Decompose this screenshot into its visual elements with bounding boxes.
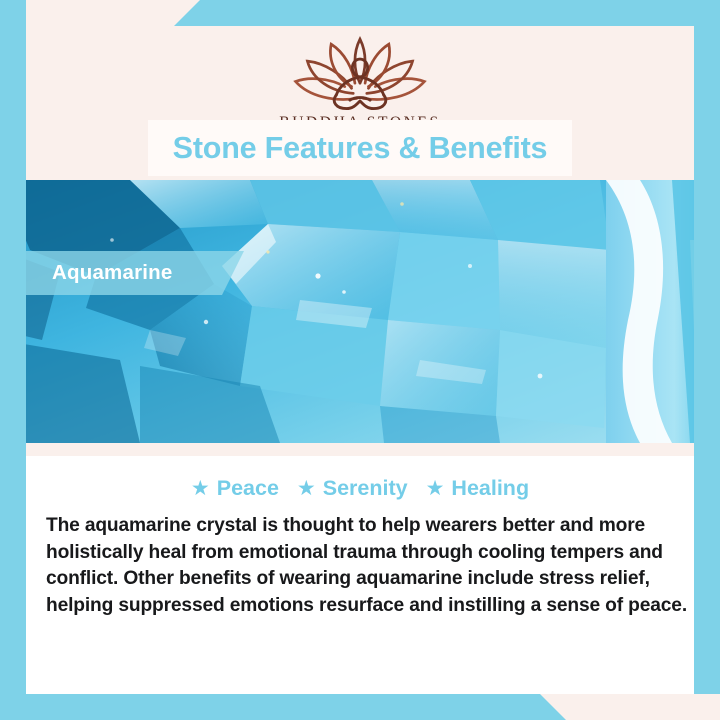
benefit-label: Serenity	[323, 476, 408, 501]
content-area: ★ Peace ★ Serenity ★ Healing The aquamar…	[26, 456, 694, 694]
stone-description: The aquamarine crystal is thought to hel…	[26, 513, 694, 619]
crystal-photo-art	[26, 180, 694, 443]
lotus-meditation-figure-icon	[275, 34, 445, 112]
stone-name-label: Aquamarine	[26, 261, 172, 285]
benefit-label: Healing	[451, 476, 529, 501]
aquamarine-crystal-photo	[26, 180, 694, 443]
frame-top-diagonal-band	[0, 0, 720, 26]
card-inner: BUDDHA STONES Stone Features & Benefits	[26, 26, 694, 694]
benefit-item-healing: ★ Healing	[426, 476, 529, 501]
page-title: Stone Features & Benefits	[173, 131, 548, 166]
benefit-item-serenity: ★ Serenity	[297, 476, 408, 501]
title-panel: Stone Features & Benefits	[148, 120, 572, 176]
star-icon: ★	[191, 478, 210, 499]
star-icon: ★	[426, 478, 445, 499]
benefits-row: ★ Peace ★ Serenity ★ Healing	[26, 456, 694, 501]
stone-info-card: BUDDHA STONES Stone Features & Benefits	[0, 0, 720, 720]
frame-left-bar	[0, 0, 26, 720]
brand-logo: BUDDHA STONES	[26, 26, 694, 132]
frame-right-bar	[694, 0, 720, 700]
stone-name-banner: Aquamarine	[26, 251, 244, 295]
star-icon: ★	[297, 478, 316, 499]
benefit-item-peace: ★ Peace	[191, 476, 279, 501]
benefit-label: Peace	[217, 476, 279, 501]
